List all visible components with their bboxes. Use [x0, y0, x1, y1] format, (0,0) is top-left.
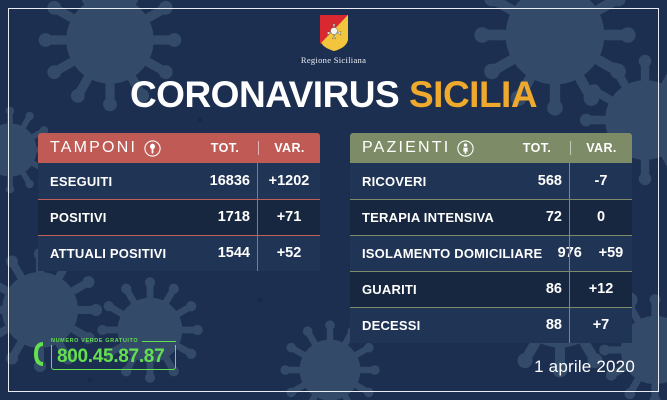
toll-free-label-rule [142, 341, 176, 342]
toll-free-label-row: NUMERO VERDE GRATUITO [51, 338, 176, 344]
row-variation: 0 [570, 209, 632, 225]
table-row: ESEGUITI 16836 +1202 [38, 163, 320, 199]
table-pazienti-title-text: PAZIENTI [362, 139, 450, 157]
table-row: TERAPIA INTENSIVA 72 0 [350, 199, 632, 235]
row-variation: +71 [258, 209, 320, 225]
row-total: 16836 [192, 173, 258, 189]
infographic-poster: Regione Siciliana CORONAVIRUS SICILIA TA… [0, 0, 667, 400]
row-label: POSITIVI [50, 210, 192, 225]
row-label: ESEGUITI [50, 174, 192, 189]
toll-free-number-block[interactable]: NUMERO VERDE GRATUITO 800.45.87.87 [32, 338, 176, 370]
table-pazienti-col-total: TOT. [504, 141, 570, 155]
row-label: GUARITI [362, 282, 504, 297]
table-row: DECESSI 88 +7 [350, 307, 632, 343]
swab-icon [144, 140, 161, 157]
table-tamponi-title: TAMPONI [50, 139, 192, 157]
table-tamponi-col-variation: VAR. [258, 141, 320, 155]
row-total: 72 [504, 209, 570, 225]
table-row: RICOVERI 568 -7 [350, 163, 632, 199]
page-title-accent: SICILIA [409, 74, 537, 115]
table-pazienti: PAZIENTI TOT. VAR. RICOVERI 568 -7 [350, 133, 632, 343]
table-tamponi-header: TAMPONI TOT. VAR. [38, 133, 320, 163]
report-date: 1 aprile 2020 [534, 357, 635, 377]
table-pazienti-col-variation: VAR. [570, 141, 632, 155]
table-row: ATTUALI POSITIVI 1544 +52 [38, 235, 320, 271]
region-crest-block: Regione Siciliana [0, 14, 667, 65]
row-total: 1718 [192, 209, 258, 225]
table-row: ISOLAMENTO DOMICILIARE 976 +59 [350, 235, 632, 271]
row-variation: +1202 [258, 173, 320, 189]
phone-handset-icon [32, 340, 46, 368]
toll-free-digits[interactable]: 800.45.87.87 [51, 345, 176, 370]
row-label: DECESSI [362, 318, 504, 333]
row-label: RICOVERI [362, 174, 504, 189]
row-label: TERAPIA INTENSIVA [362, 210, 504, 225]
row-total: 568 [504, 173, 570, 189]
row-variation: +52 [258, 245, 320, 261]
row-total: 976 [542, 245, 589, 261]
sicilian-coat-of-arms-icon [319, 14, 349, 52]
row-variation: -7 [570, 173, 632, 189]
table-tamponi-body: ESEGUITI 16836 +1202 POSITIVI 1718 +71 A… [38, 163, 320, 271]
table-row: GUARITI 86 +12 [350, 271, 632, 307]
table-tamponi: TAMPONI TOT. VAR. ESEGUITI 16836 +1202 [38, 133, 320, 271]
table-row: POSITIVI 1718 +71 [38, 199, 320, 235]
table-tamponi-title-text: TAMPONI [50, 139, 137, 157]
row-variation: +7 [570, 317, 632, 333]
toll-free-number-text: NUMERO VERDE GRATUITO 800.45.87.87 [51, 338, 176, 370]
table-tamponi-col-total: TOT. [192, 141, 258, 155]
row-total: 86 [504, 281, 570, 297]
row-label: ATTUALI POSITIVI [50, 246, 192, 261]
crest-caption: Regione Siciliana [0, 55, 667, 65]
table-pazienti-title: PAZIENTI [362, 139, 504, 157]
row-total: 88 [504, 317, 570, 333]
row-total: 1544 [192, 245, 258, 261]
row-variation: +12 [570, 281, 632, 297]
person-icon [457, 140, 474, 157]
row-label: ISOLAMENTO DOMICILIARE [362, 246, 542, 261]
page-title-main: CORONAVIRUS [130, 74, 399, 115]
table-pazienti-header: PAZIENTI TOT. VAR. [350, 133, 632, 163]
page-title: CORONAVIRUS SICILIA [0, 76, 667, 113]
row-variation: +59 [590, 245, 632, 261]
table-pazienti-body: RICOVERI 568 -7 TERAPIA INTENSIVA 72 0 I… [350, 163, 632, 343]
toll-free-label: NUMERO VERDE GRATUITO [51, 338, 138, 344]
